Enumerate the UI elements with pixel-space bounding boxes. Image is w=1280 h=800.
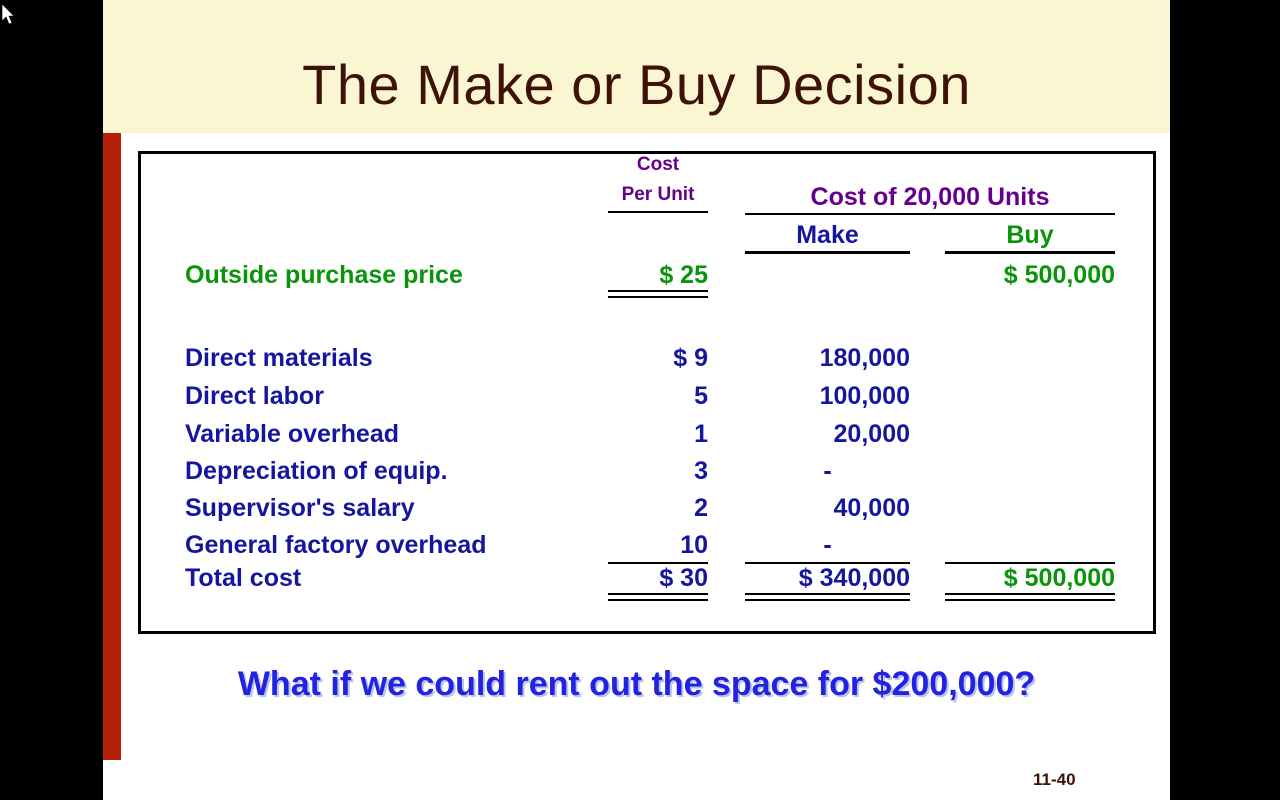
direct-labor-per-unit: 5 bbox=[608, 384, 708, 409]
total-buy-value: $ 500,000 bbox=[945, 566, 1115, 591]
total-make-value: $ 340,000 bbox=[745, 566, 910, 591]
outside-buy-value: $ 500,000 bbox=[945, 263, 1115, 288]
header-buy: Buy bbox=[945, 223, 1115, 248]
direct-materials-per-unit: $ 9 bbox=[608, 346, 708, 371]
general-factory-overhead-per-unit: 10 bbox=[608, 533, 708, 558]
header-cost: Cost bbox=[608, 155, 708, 174]
row-label-outside-purchase-price: Outside purchase price bbox=[185, 263, 463, 288]
slide-canvas: The Make or Buy Decision Cost Per Unit C… bbox=[103, 0, 1170, 800]
row-label-general-factory-overhead: General factory overhead bbox=[185, 533, 487, 558]
rule-total-buy-bottom bbox=[945, 599, 1115, 601]
direct-materials-make: 180,000 bbox=[745, 346, 910, 371]
variable-overhead-per-unit: 1 bbox=[608, 422, 708, 447]
row-label-total-cost: Total cost bbox=[185, 566, 301, 591]
rule-total-per-unit-bottom bbox=[608, 599, 708, 601]
mouse-cursor-icon bbox=[2, 4, 18, 28]
direct-labor-make: 100,000 bbox=[745, 384, 910, 409]
slide-number: 11-40 bbox=[1033, 770, 1153, 790]
general-factory-overhead-make: - bbox=[745, 533, 910, 558]
rule-per-unit-header bbox=[608, 211, 708, 213]
rule-outside-per-unit-bottom bbox=[608, 296, 708, 298]
row-label-direct-labor: Direct labor bbox=[185, 384, 324, 409]
rule-outside-per-unit-top bbox=[608, 290, 708, 292]
depreciation-per-unit: 3 bbox=[608, 459, 708, 484]
rule-total-make-bottom bbox=[745, 599, 910, 601]
rule-cost-of-units-header bbox=[745, 213, 1115, 215]
row-label-variable-overhead: Variable overhead bbox=[185, 422, 399, 447]
header-cost-of-units: Cost of 20,000 Units bbox=[745, 185, 1115, 210]
question-text: What if we could rent out the space for … bbox=[103, 665, 1170, 704]
rule-total-per-unit-top bbox=[608, 593, 708, 595]
depreciation-make: - bbox=[745, 459, 910, 484]
header-make: Make bbox=[745, 223, 910, 248]
slide-viewer: The Make or Buy Decision Cost Per Unit C… bbox=[0, 0, 1280, 800]
rule-make-header bbox=[745, 251, 910, 254]
row-label-depreciation-of-equip: Depreciation of equip. bbox=[185, 459, 448, 484]
row-label-supervisors-salary: Supervisor's salary bbox=[185, 496, 415, 521]
row-label-direct-materials: Direct materials bbox=[185, 346, 373, 371]
variable-overhead-make: 20,000 bbox=[745, 422, 910, 447]
rule-total-make-top bbox=[745, 593, 910, 595]
rule-buy-header bbox=[945, 251, 1115, 254]
supervisors-salary-per-unit: 2 bbox=[608, 496, 708, 521]
supervisors-salary-make: 40,000 bbox=[745, 496, 910, 521]
outside-per-unit-value: $ 25 bbox=[608, 263, 708, 288]
page-title: The Make or Buy Decision bbox=[103, 57, 1170, 113]
header-per-unit: Per Unit bbox=[608, 185, 708, 204]
total-per-unit-value: $ 30 bbox=[608, 566, 708, 591]
rule-total-buy-top bbox=[945, 593, 1115, 595]
